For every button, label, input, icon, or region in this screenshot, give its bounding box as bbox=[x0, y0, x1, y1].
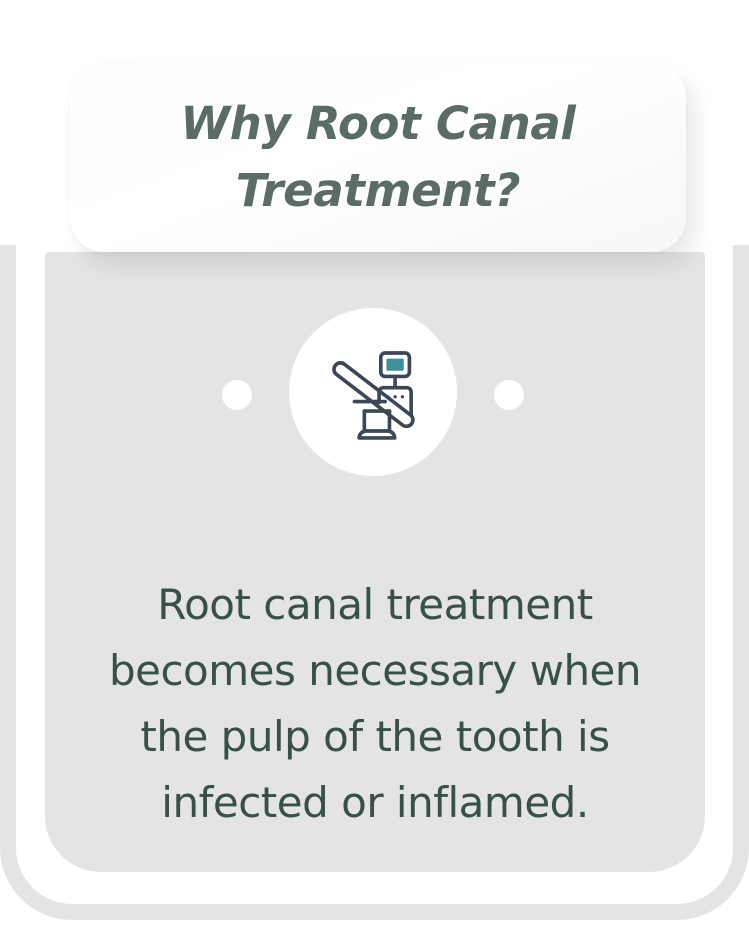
icon-circle bbox=[289, 308, 457, 476]
card-body-text: Root canal treatment becomes necessary w… bbox=[70, 572, 680, 836]
title-pill: Why Root Canal Treatment? bbox=[70, 62, 686, 252]
card-stage: Why Root Canal Treatment? bbox=[0, 0, 749, 930]
decor-dot-left bbox=[222, 380, 252, 410]
page-title: Why Root Canal Treatment? bbox=[180, 90, 575, 225]
decor-dot-right bbox=[494, 380, 524, 410]
dental-chair-icon bbox=[321, 340, 425, 444]
